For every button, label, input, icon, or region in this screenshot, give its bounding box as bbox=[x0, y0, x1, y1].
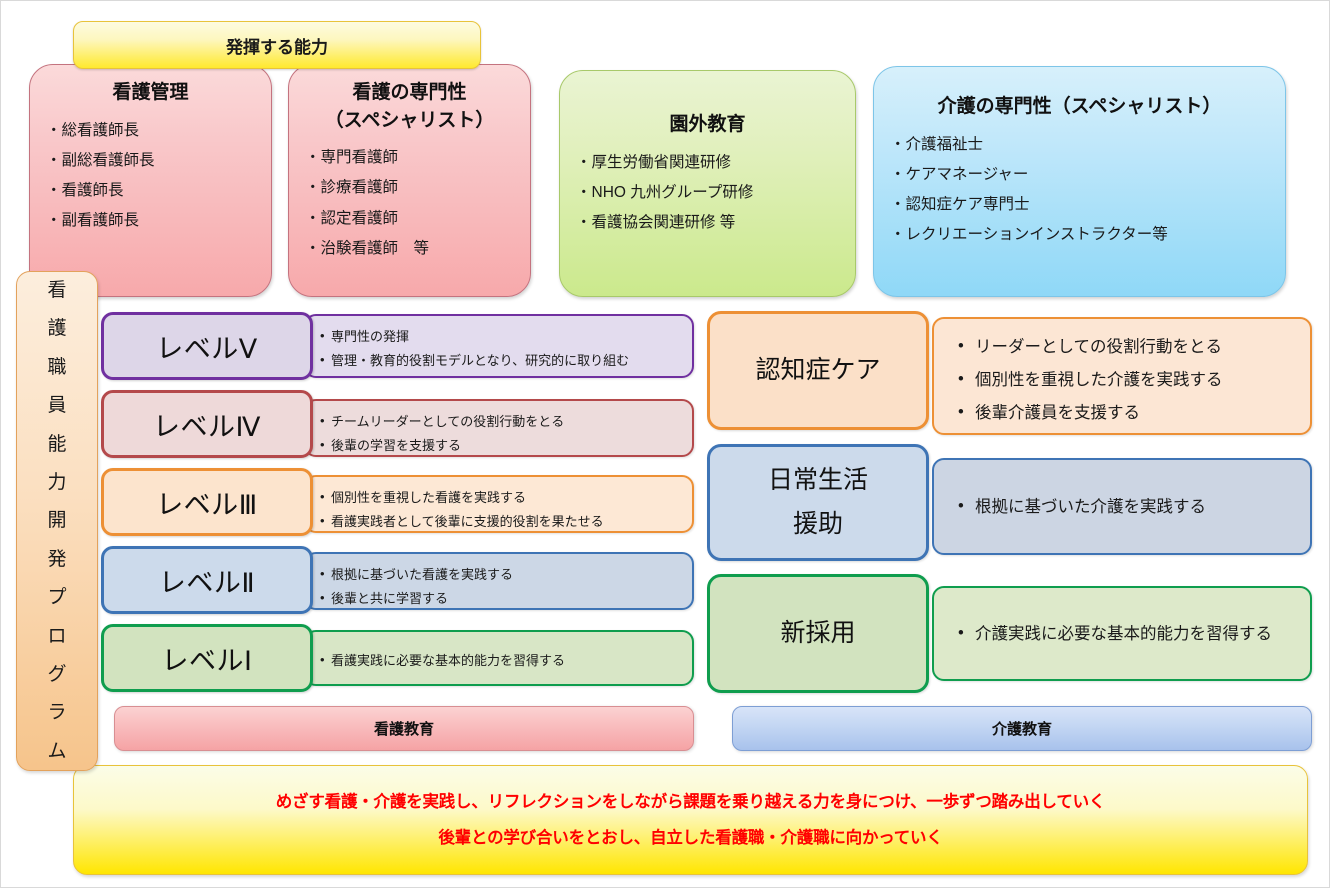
card-external-education: 園外教育 ・厚生労働省関連研修 ・NHO 九州グループ研修 ・看護協会関連研修 … bbox=[559, 70, 856, 297]
card-item: ・レクリエーションインストラクター等 bbox=[890, 220, 1269, 250]
program-spine-vertical-label: 看 護 職 員 能 力 開 発 プ ロ グ ラ ム bbox=[16, 271, 98, 771]
level-1-label: レベルⅠ bbox=[101, 624, 313, 692]
card-item: ・看護協会関連研修 等 bbox=[576, 208, 839, 238]
daily-living-support-label: 日常生活 援助 bbox=[707, 444, 929, 561]
card-item: ・ケアマネージャー bbox=[890, 160, 1269, 190]
care-description-item: 介護実践に必要な基本的能力を習得する bbox=[958, 622, 1272, 648]
spine-char: 能 bbox=[47, 435, 66, 454]
level-description-item: 根拠に基づいた看護を実践する bbox=[320, 563, 682, 587]
card-item: ・認知症ケア専門士 bbox=[890, 190, 1269, 220]
spine-char: 看 bbox=[47, 281, 66, 300]
level-3-description: 個別性を重視した看護を実践する 看護実践者として後輩に支援的役割を果たせる bbox=[304, 475, 694, 533]
level-label-text: レベルⅢ bbox=[156, 483, 258, 522]
dementia-care-description: リーダーとしての役割行動をとる 個別性を重視した介護を実践する 後輩介護員を支援… bbox=[932, 317, 1312, 435]
care-label-line1: 日常生活 bbox=[768, 459, 868, 503]
level-description-item: 専門性の発揮 bbox=[320, 325, 682, 349]
level-4-label: レベルⅣ bbox=[101, 390, 313, 458]
spine-char: ラ bbox=[47, 703, 66, 722]
capability-header-banner: 発揮する能力 bbox=[73, 21, 481, 69]
card-item: ・専門看護師 bbox=[305, 143, 514, 173]
level-description-item: 管理・教育的役割モデルとなり、研究的に取り組む bbox=[320, 349, 682, 373]
level-1-description: 看護実践に必要な基本的能力を習得する bbox=[304, 630, 694, 686]
spine-char: プ bbox=[47, 588, 66, 607]
level-label-text: レベルⅡ bbox=[159, 561, 255, 600]
spine-char: 護 bbox=[47, 319, 66, 338]
level-description-item: 看護実践者として後輩に支援的役割を果たせる bbox=[320, 510, 682, 534]
spine-char: 発 bbox=[47, 550, 66, 569]
card-item: ・総看護師長 bbox=[46, 116, 255, 146]
care-description-item: リーダーとしての役割行動をとる bbox=[958, 331, 1294, 364]
care-label-line2: 援助 bbox=[793, 503, 843, 547]
level-description-item: 後輩の学習を支援する bbox=[320, 434, 682, 458]
education-bar-label: 看護教育 bbox=[374, 718, 434, 739]
card-item: ・介護福祉士 bbox=[890, 130, 1269, 160]
spine-char: グ bbox=[47, 665, 66, 684]
new-hire-description: 介護実践に必要な基本的能力を習得する bbox=[932, 586, 1312, 681]
dementia-care-label: 認知症ケア bbox=[707, 311, 929, 430]
level-4-description: チームリーダーとしての役割行動をとる 後輩の学習を支援する bbox=[304, 399, 694, 457]
spine-char: 開 bbox=[47, 511, 66, 530]
card-item: ・副看護師長 bbox=[46, 206, 255, 236]
footer-message-line2: 後輩との学び合いをとおし、自立した看護職・介護職に向かっていく bbox=[438, 820, 942, 856]
card-nursing-specialty: 看護の専門性 （スペシャリスト） ・専門看護師 ・診療看護師 ・認定看護師 ・治… bbox=[288, 64, 531, 297]
footer-message-line1: めざす看護・介護を実践し、リフレクションをしながら課題を乗り越える力を身につけ、… bbox=[276, 784, 1106, 820]
daily-living-support-description: 根拠に基づいた介護を実践する bbox=[932, 458, 1312, 555]
capability-header-label: 発揮する能力 bbox=[226, 33, 328, 58]
care-label-text: 認知症ケア bbox=[755, 349, 880, 393]
card-item: ・看護師長 bbox=[46, 176, 255, 206]
card-item: ・副総看護師長 bbox=[46, 146, 255, 176]
level-description-item: 看護実践に必要な基本的能力を習得する bbox=[320, 649, 682, 673]
care-label-text: 新採用 bbox=[780, 612, 855, 656]
card-title: 園外教育 bbox=[576, 111, 839, 139]
level-5-description: 専門性の発揮 管理・教育的役割モデルとなり、研究的に取り組む bbox=[304, 314, 694, 378]
card-title: 介護の専門性（スペシャリスト） bbox=[890, 93, 1269, 121]
level-label-text: レベルⅤ bbox=[156, 327, 257, 366]
card-nursing-management: 看護管理 ・総看護師長 ・副総看護師長 ・看護師長 ・副看護師長 bbox=[29, 64, 272, 297]
spine-char: 員 bbox=[47, 396, 66, 415]
spine-char: ロ bbox=[47, 627, 66, 646]
level-2-description: 根拠に基づいた看護を実践する 後輩と共に学習する bbox=[304, 552, 694, 610]
card-title: 看護の専門性 （スペシャリスト） bbox=[305, 79, 514, 134]
care-education-bar: 介護教育 bbox=[732, 706, 1312, 751]
card-title: 看護管理 bbox=[46, 79, 255, 107]
nursing-education-bar: 看護教育 bbox=[114, 706, 694, 751]
card-item: ・厚生労働省関連研修 bbox=[576, 148, 839, 178]
diagram-canvas: 発揮する能力 看護管理 ・総看護師長 ・副総看護師長 ・看護師長 ・副看護師長 … bbox=[0, 0, 1330, 888]
card-item: ・NHO 九州グループ研修 bbox=[576, 178, 839, 208]
level-label-text: レベルⅠ bbox=[162, 639, 253, 678]
card-item: ・治験看護師 等 bbox=[305, 234, 514, 264]
spine-char: 職 bbox=[47, 358, 66, 377]
care-description-item: 根拠に基づいた介護を実践する bbox=[958, 491, 1206, 524]
footer-message-banner: めざす看護・介護を実践し、リフレクションをしながら課題を乗り越える力を身につけ、… bbox=[73, 765, 1308, 875]
care-description-item: 個別性を重視した介護を実践する bbox=[958, 364, 1294, 397]
card-title-line1: 看護の専門性 bbox=[305, 79, 514, 107]
card-title-line2: （スペシャリスト） bbox=[305, 107, 514, 135]
education-bar-label: 介護教育 bbox=[992, 718, 1052, 739]
level-description-item: 後輩と共に学習する bbox=[320, 587, 682, 611]
care-description-item: 後輩介護員を支援する bbox=[958, 397, 1294, 430]
card-care-specialty: 介護の専門性（スペシャリスト） ・介護福祉士 ・ケアマネージャー ・認知症ケア専… bbox=[873, 66, 1286, 297]
level-5-label: レベルⅤ bbox=[101, 312, 313, 380]
spine-char: 力 bbox=[47, 473, 66, 492]
card-item: ・認定看護師 bbox=[305, 204, 514, 234]
level-description-item: チームリーダーとしての役割行動をとる bbox=[320, 410, 682, 434]
level-description-item: 個別性を重視した看護を実践する bbox=[320, 486, 682, 510]
level-label-text: レベルⅣ bbox=[153, 405, 261, 444]
level-2-label: レベルⅡ bbox=[101, 546, 313, 614]
card-item: ・診療看護師 bbox=[305, 173, 514, 203]
level-3-label: レベルⅢ bbox=[101, 468, 313, 536]
spine-char: ム bbox=[47, 742, 66, 761]
new-hire-label: 新採用 bbox=[707, 574, 929, 693]
